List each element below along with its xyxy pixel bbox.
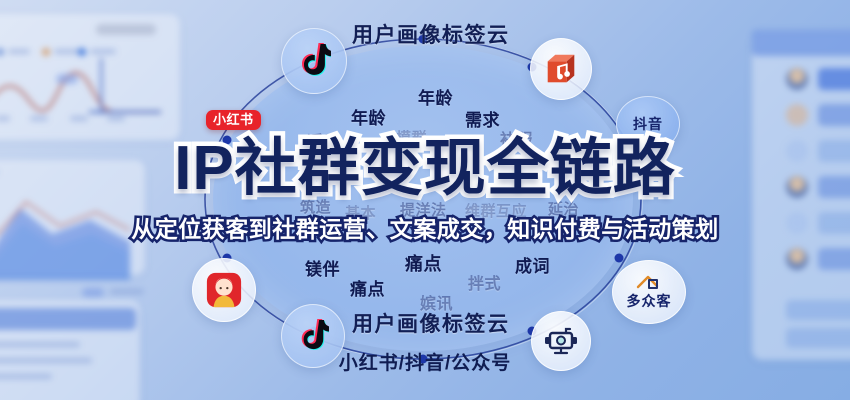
bg-legend-bottomleft [82,288,104,297]
node-label-xiaohongshu: 小红书 [213,112,254,127]
platform-note: 小红书/抖音/公众号 [0,348,850,375]
node-label-duozhongke: 多众客 [627,291,672,311]
node-duozhongke[interactable]: 多众客 [612,260,686,324]
bg-chip-title-topleft [96,24,156,35]
node-music-cube[interactable] [530,38,592,100]
bg-xtick-1 [0,116,10,121]
bg-row-bar-8 [786,328,850,348]
node-tiktok-top[interactable] [281,28,347,94]
title-block: IP社群变现全链路 从定位获客到社群运营、文案成交，知识付费与活动策划 [0,138,850,244]
bg-row-bar-7 [786,300,850,320]
bg-row-bar-6 [818,248,850,270]
bg-avatar-row-1 [786,68,808,90]
bg-row-bar-1 [818,68,850,90]
heading-persona-bottom: 用户画像标签云 [352,308,510,338]
avatar-app-icon [205,271,243,309]
page-subtitle: 从定位获客到社群运营、文案成交，知识付费与活动策划 [0,210,850,244]
poster-canvas: 年龄年龄需求适用模群袂服筑造基本提洋法维群互应延治镁伴痛点成词痛点拌式嫔讯 [0,0,850,400]
node-xiaohongshu-chip[interactable]: 小红书 [206,110,261,130]
bg-avatar-row-6 [786,248,808,270]
music-cube-icon [542,50,580,88]
bg-xtick-2 [30,116,48,121]
house-arrow-icon [636,274,662,290]
bg-bullet-text-1 [0,342,80,347]
bg-legend-text-c [90,49,116,54]
bg-avatar-row-2 [786,104,808,126]
heading-persona-top: 用户画像标签云 [352,19,510,49]
tiktok-icon [297,42,331,80]
bg-panel-header-right [752,30,850,56]
bg-panel-header-bottomleft [0,308,136,330]
bg-tooltip-topleft [56,74,78,84]
bg-xtick-4 [107,116,125,121]
node-avatar-app[interactable] [192,258,256,322]
bg-legend-text-a [8,49,30,54]
bg-legend-bottomleft-text [110,289,144,294]
bg-row-bar-2 [818,104,850,126]
bg-legend-dot-c [78,48,86,56]
page-title: IP社群变现全链路 [0,138,850,200]
bg-legend-text-b [54,49,80,54]
node-label-douyin: 抖音 [633,114,663,134]
bg-xtick-3 [70,116,88,121]
bg-legend-dot-b [42,48,50,56]
